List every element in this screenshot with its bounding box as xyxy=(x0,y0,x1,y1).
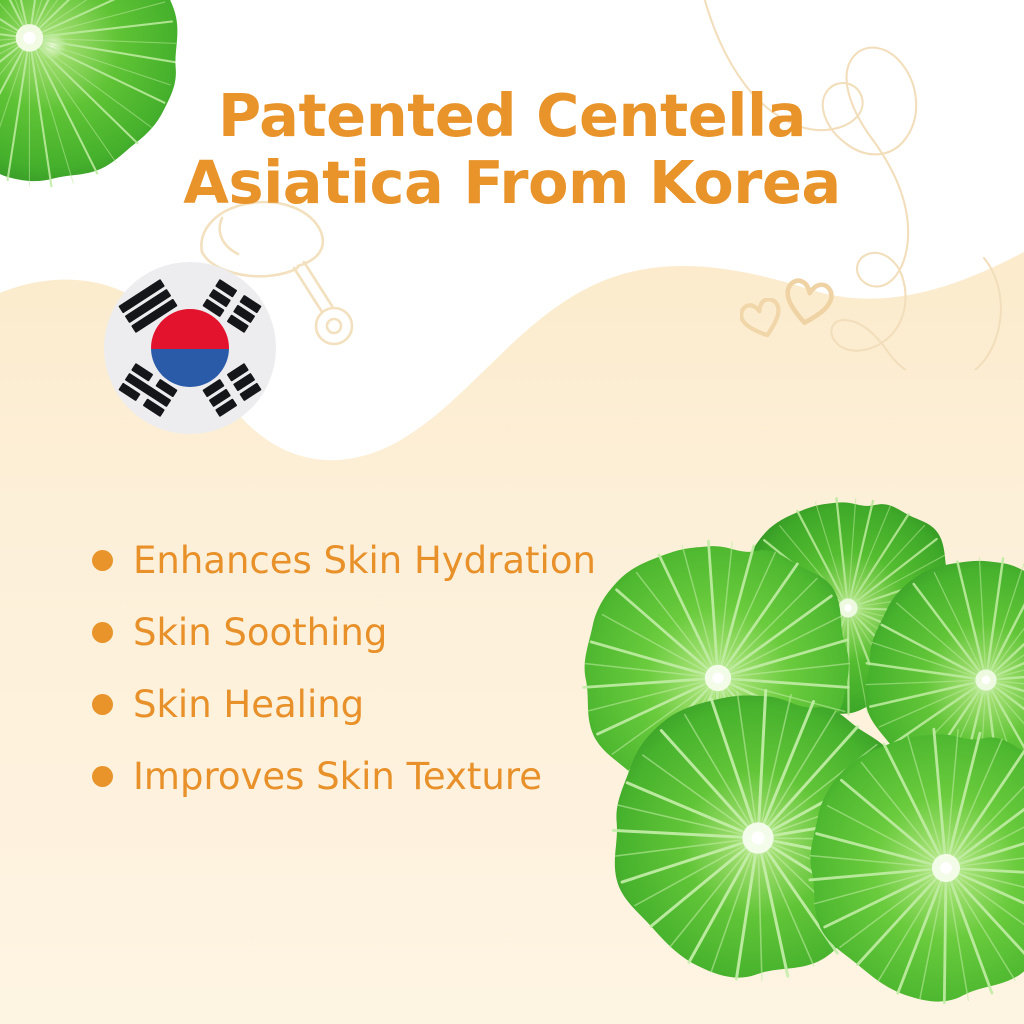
south-korea-flag-icon xyxy=(104,262,276,434)
centella-leaf-cluster-bottom-right xyxy=(562,490,1024,1024)
benefit-label: Skin Healing xyxy=(133,686,364,723)
page-title: Patented Centella Asiatica From Korea xyxy=(0,82,1024,217)
benefit-label: Skin Soothing xyxy=(133,614,387,651)
benefit-label: Improves Skin Texture xyxy=(133,758,542,795)
list-item: Skin Soothing xyxy=(92,596,596,668)
bullet-dot-icon xyxy=(92,694,113,715)
bullet-dot-icon xyxy=(92,550,113,571)
poster-canvas: Patented Centella Asiatica From Korea En… xyxy=(0,0,1024,1024)
list-item: Improves Skin Texture xyxy=(92,740,596,812)
bullet-dot-icon xyxy=(92,622,113,643)
list-item: Skin Healing xyxy=(92,668,596,740)
page-title-line-1: Patented Centella xyxy=(0,82,1024,149)
list-item: Enhances Skin Hydration xyxy=(92,524,596,596)
page-title-line-2: Asiatica From Korea xyxy=(0,149,1024,216)
benefits-list: Enhances Skin Hydration Skin Soothing Sk… xyxy=(92,524,596,812)
benefit-label: Enhances Skin Hydration xyxy=(133,542,596,579)
bullet-dot-icon xyxy=(92,766,113,787)
